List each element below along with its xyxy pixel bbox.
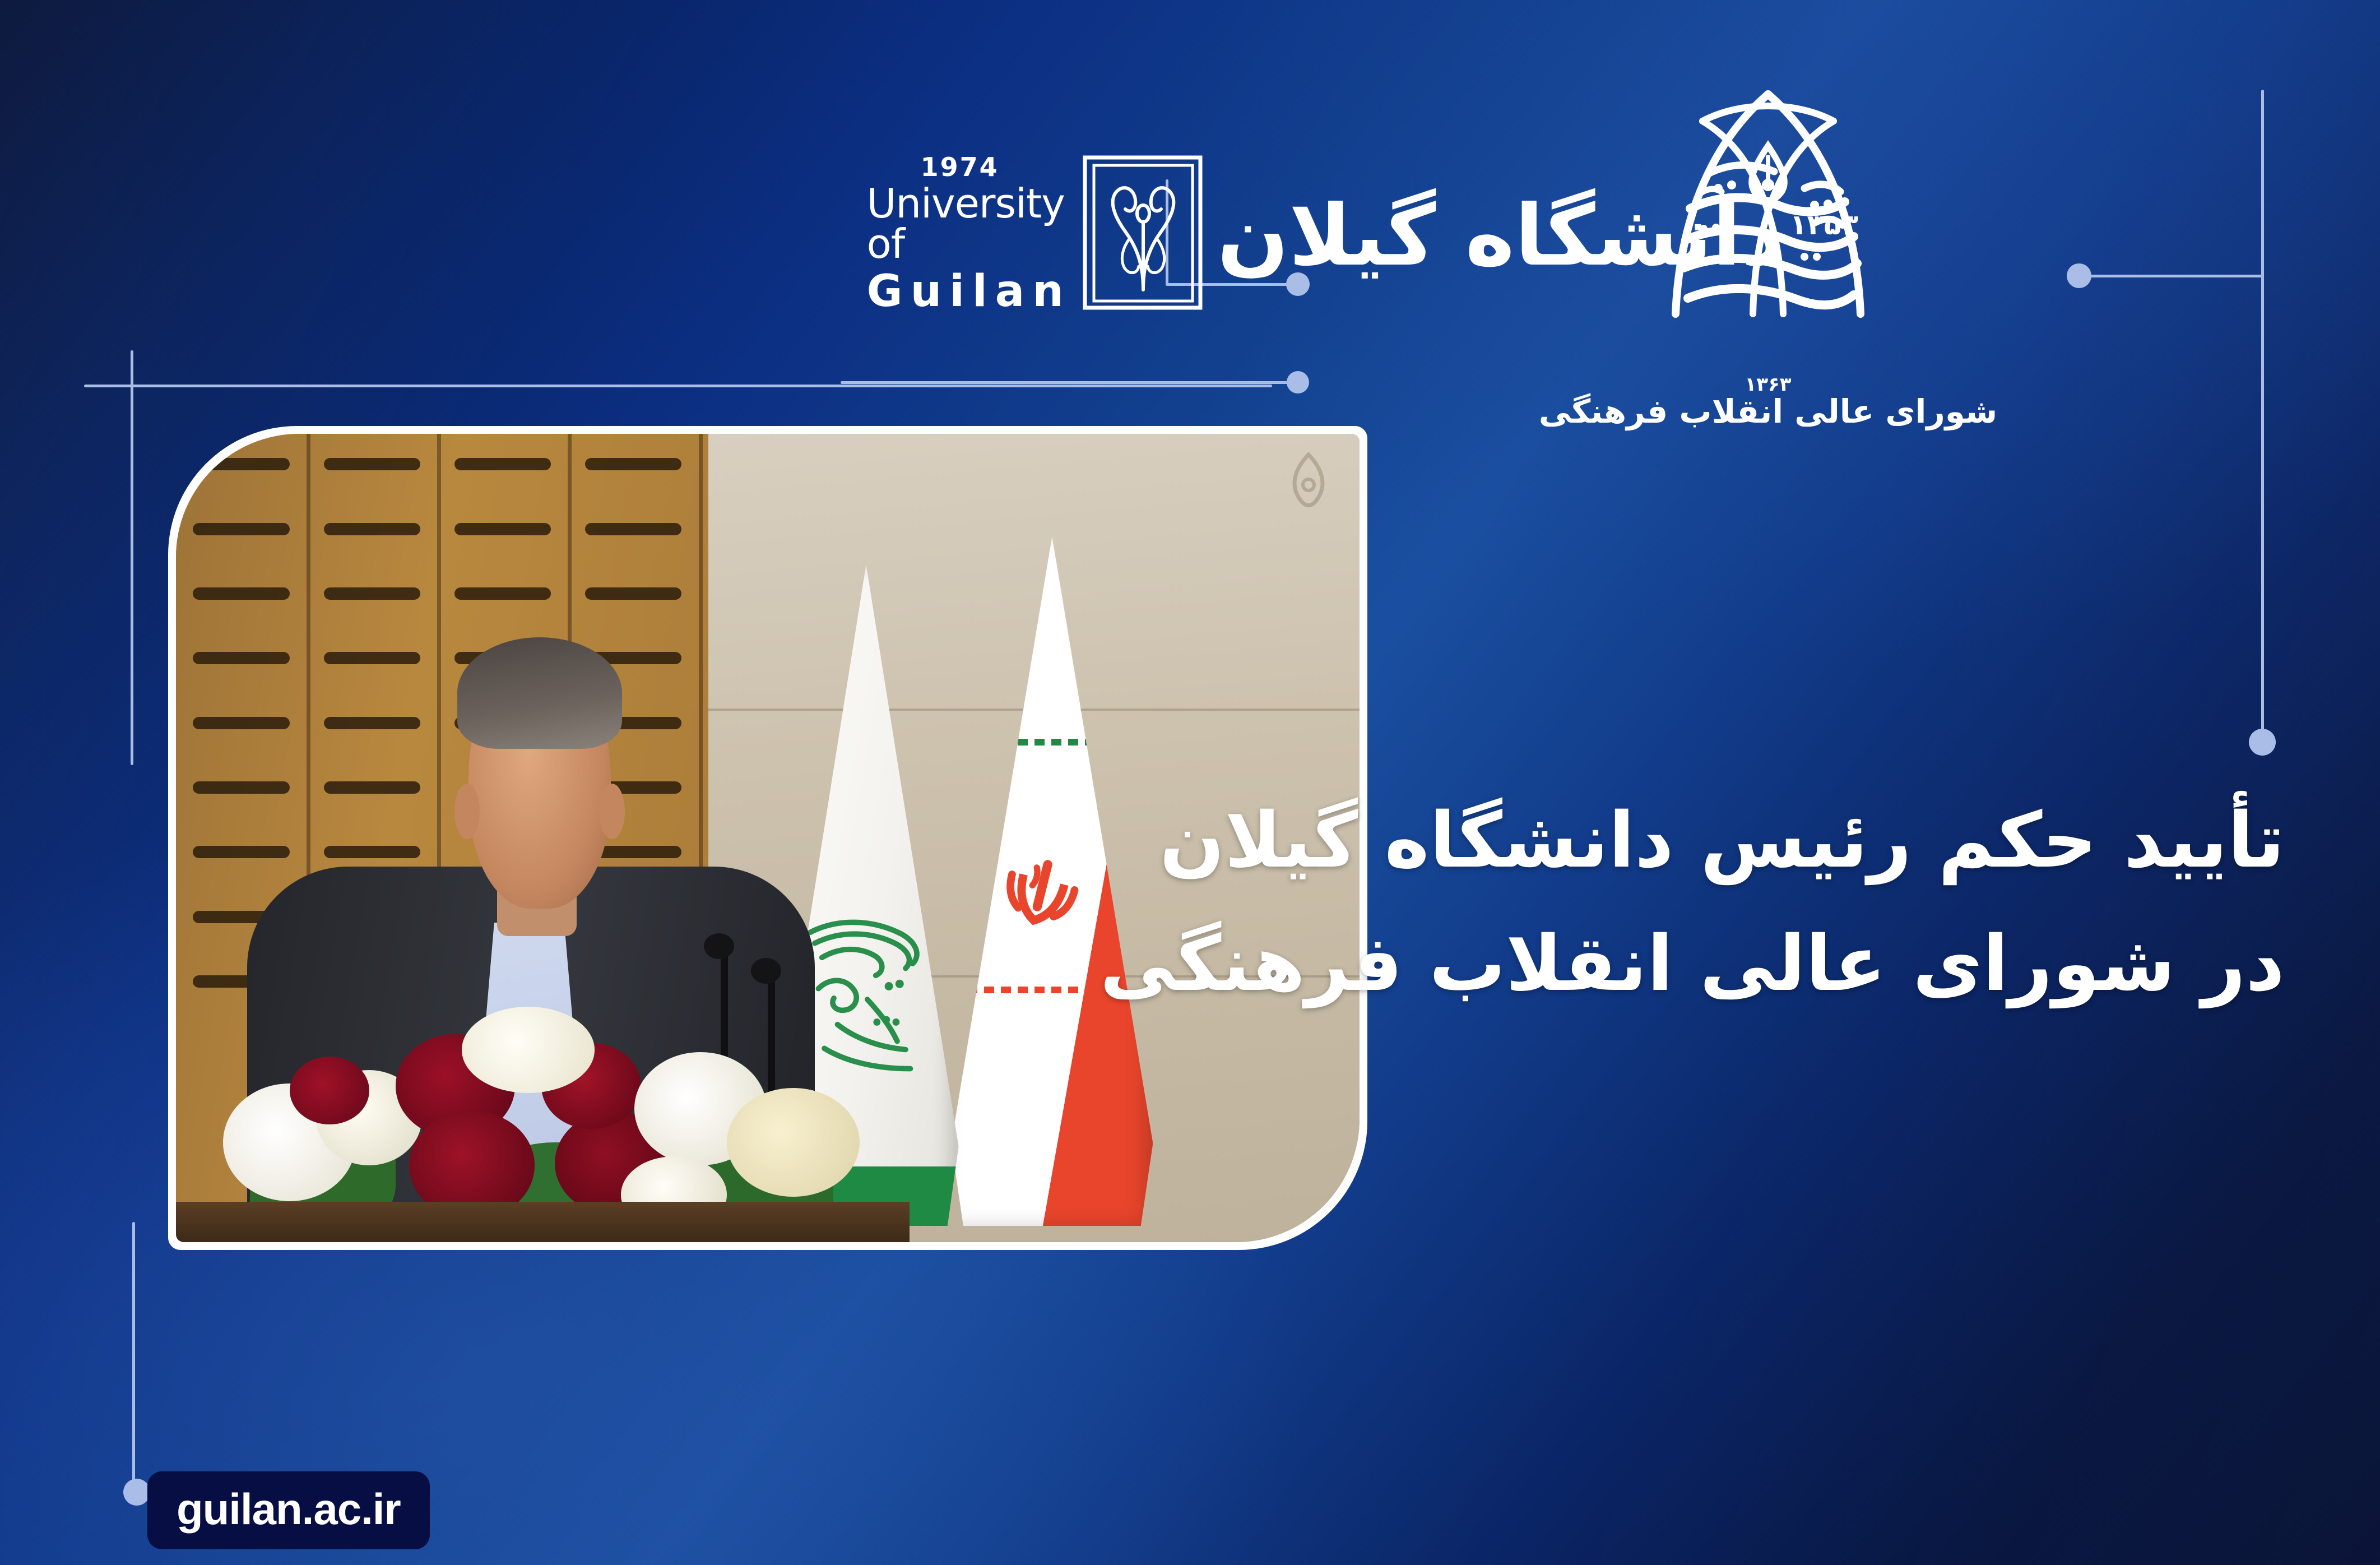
crosshair-vertical-line [131, 350, 133, 765]
right-bracket-vertical-line [2261, 90, 2264, 740]
stone-ornament-icon [1283, 450, 1334, 534]
headline: تأیید حکم رئیس دانشگاه گیلان در شورای عا… [1276, 779, 2285, 1026]
microphone-head-2 [751, 958, 781, 984]
right-bracket-horizontal-line [2073, 275, 2264, 277]
supreme-council-emblem-icon [1636, 78, 1900, 376]
university-founded-year-english: 1974 [921, 152, 999, 182]
university-name-english-line2: Guilan [867, 270, 1071, 313]
footer-line-dot-icon [123, 1479, 150, 1506]
iran-emblem-icon [990, 847, 1090, 943]
white-lily [462, 1007, 595, 1092]
university-name-english-line1: University of [867, 183, 1071, 264]
website-badge[interactable]: guilan.ac.ir [147, 1471, 430, 1549]
news-poster: دانشگاه گیلان ۱۳۵۳ 1974 University of Gu… [0, 0, 2380, 1565]
right-bracket-dot-icon [2067, 263, 2091, 288]
headline-line-2: در شورای عالی انقلاب فرهنگی [1276, 902, 2285, 1026]
lower-accent-dot-icon [1287, 371, 1309, 393]
university-name-english-group: 1974 University of Guilan [867, 152, 1071, 313]
podium [176, 1202, 910, 1242]
lower-accent-line [841, 381, 1300, 384]
guilan-university-emblem-icon [1071, 149, 1217, 317]
council-caption: شورای عالی انقلاب فرهنگی [1539, 392, 1997, 430]
red-rose [290, 1057, 369, 1124]
cream-flower [727, 1088, 860, 1197]
speaker-hair [457, 637, 622, 748]
right-line-end-dot-icon [2249, 729, 2276, 756]
website-url-text: guilan.ac.ir [177, 1484, 401, 1535]
crosshair-horizontal-line [84, 385, 1272, 387]
speaker-ear-left [454, 784, 480, 839]
headline-line-1: تأیید حکم رئیس دانشگاه گیلان [1276, 779, 2285, 902]
supreme-council-logo: ۱۳۶۳ شورای عالی انقلاب فرهنگی [1636, 78, 1900, 471]
microphone-head-1 [704, 933, 734, 959]
speaker-ear-right [599, 784, 625, 839]
footer-vertical-line [132, 1222, 135, 1488]
